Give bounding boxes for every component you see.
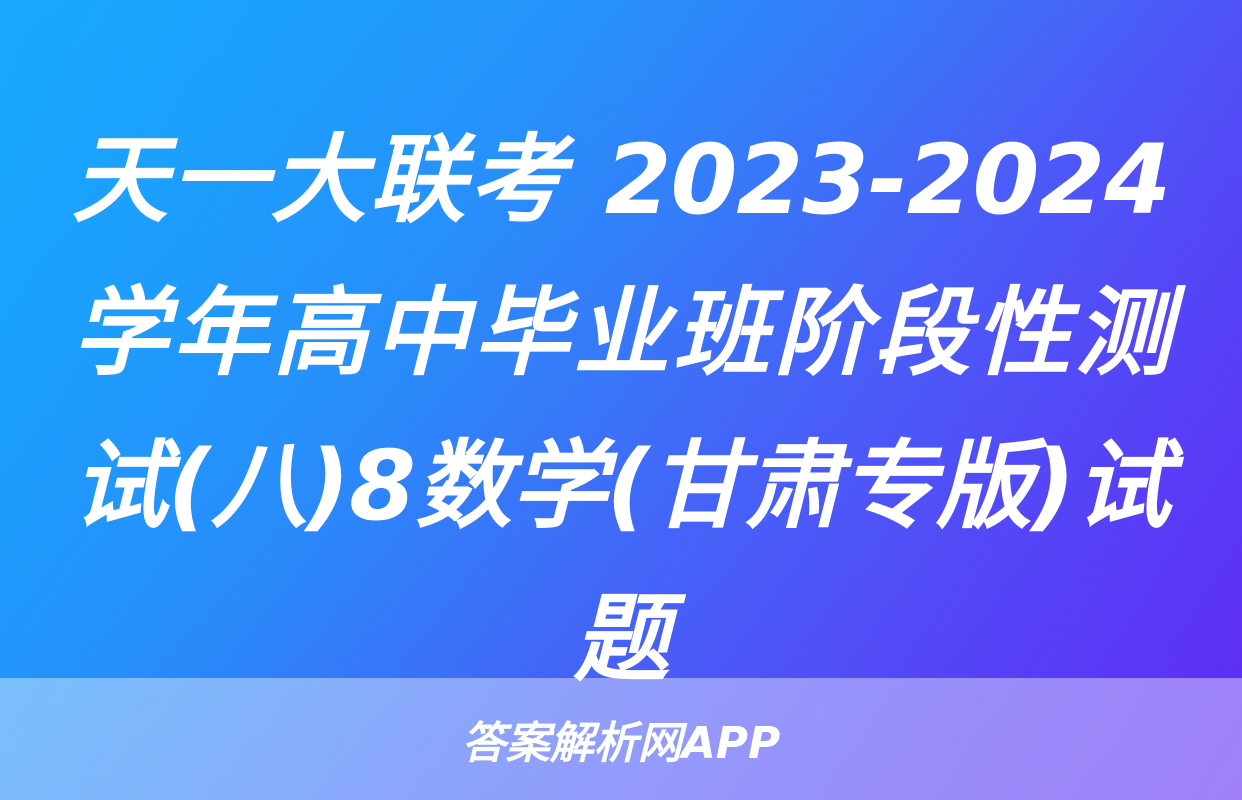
watermark-band: 答案解析网APP [0,678,1242,800]
poster-title-block: 天一大联考 2023-2024学年高中毕业班阶段性测试(八)8数学(甘肃专版)试… [72,104,1170,716]
watermark-label: 答案解析网APP [462,707,781,771]
exam-cover-poster: 天一大联考 2023-2024学年高中毕业班阶段性测试(八)8数学(甘肃专版)试… [0,0,1242,800]
page-title: 天一大联考 2023-2024学年高中毕业班阶段性测试(八)8数学(甘肃专版)试… [72,104,1170,716]
